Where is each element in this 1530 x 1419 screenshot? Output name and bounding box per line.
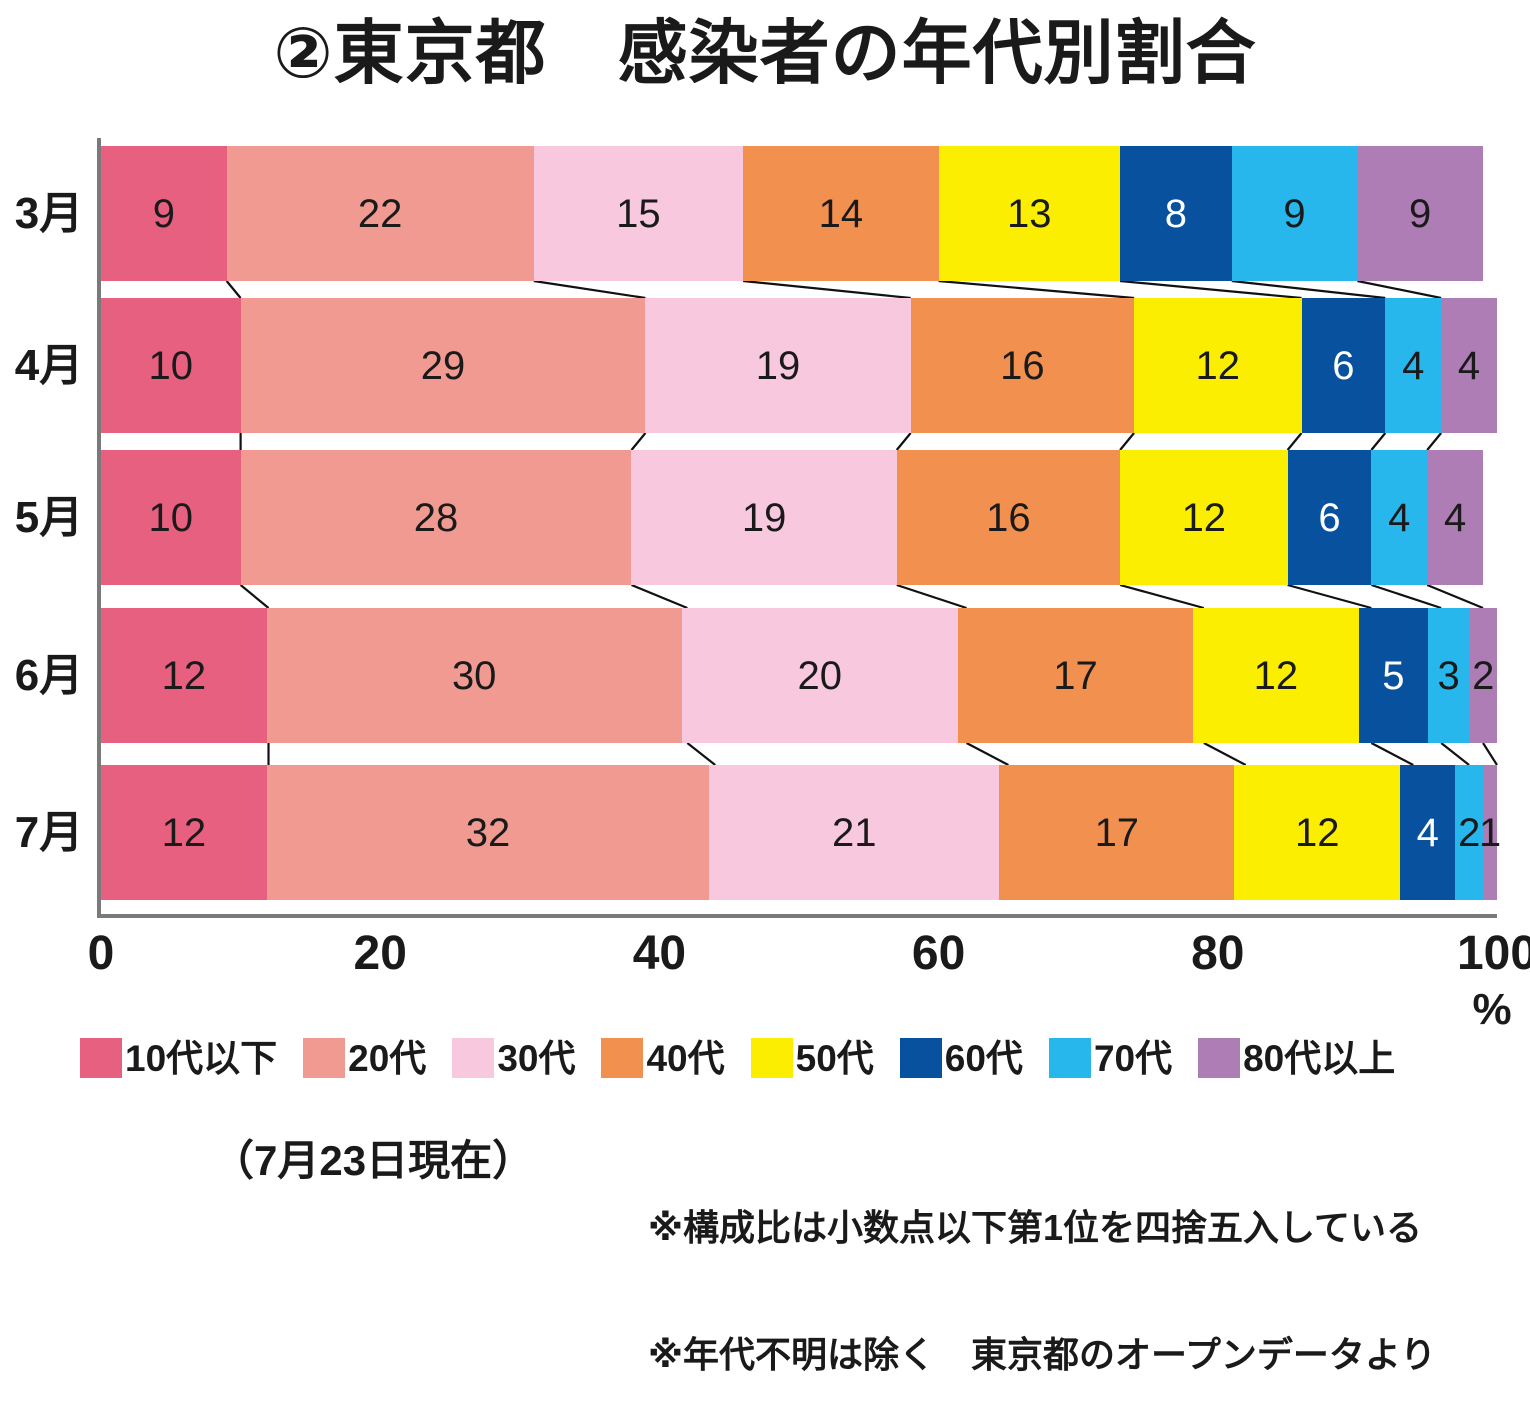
segment-connector-line [227, 281, 241, 298]
bar-segment[interactable]: 30 [267, 608, 682, 743]
legend-color-swatch [80, 1038, 122, 1078]
bar-segment-value: 4 [1402, 346, 1424, 386]
segment-connector-line [1120, 281, 1301, 298]
bar-segment[interactable]: 16 [911, 298, 1134, 433]
bar-segment-value: 4 [1388, 498, 1410, 538]
legend-item[interactable]: 80代以上 [1198, 1038, 1395, 1078]
legend-item-label: 20代 [348, 1040, 426, 1077]
legend-color-swatch [303, 1038, 345, 1078]
chart-plot-area: 9221514138991029191612644102819161264412… [0, 138, 1530, 928]
legend-item[interactable]: 10代以下 [80, 1038, 277, 1078]
stacked-bar-row: 922151413899 [101, 146, 1497, 281]
legend-item-label: 30代 [497, 1040, 575, 1077]
bar-segment-value: 5 [1382, 656, 1404, 696]
bar-segment[interactable]: 17 [958, 608, 1193, 743]
bar-segment-value: 19 [742, 498, 787, 538]
legend-item[interactable]: 60代 [900, 1038, 1023, 1078]
segment-connector-line [1371, 743, 1413, 765]
bar-segment-value: 1 [1479, 813, 1501, 853]
legend-color-swatch [1198, 1038, 1240, 1078]
stacked-bar-row: 1230201712532 [101, 608, 1497, 743]
stacked-bar-row: 1029191612644 [101, 298, 1497, 433]
bar-segment-value: 14 [819, 194, 864, 234]
bar-segment[interactable]: 6 [1302, 298, 1386, 433]
page-title: ②東京都 感染者の年代別割合 [0, 18, 1530, 88]
source-note-line-1: ※構成比は小数点以下第1位を四捨五入している [648, 1207, 1436, 1249]
y-axis-month-label: 3月 [8, 192, 90, 236]
bar-segment[interactable]: 4 [1427, 450, 1483, 585]
x-axis-tick-label: 80 [1191, 930, 1244, 978]
legend-item-label: 60代 [945, 1040, 1023, 1077]
bar-segment-value: 6 [1332, 346, 1354, 386]
source-notes: ※構成比は小数点以下第1位を四捨五入している ※年代不明は除く 東京都のオープン… [648, 1122, 1436, 1419]
stacked-bar-row: 1232211712421 [101, 765, 1497, 900]
bar-segment[interactable]: 10 [101, 450, 241, 585]
bar-segment-value: 17 [1095, 813, 1140, 853]
segment-connector-line [1427, 433, 1441, 450]
bar-segment-value: 22 [358, 194, 403, 234]
bar-segment[interactable]: 4 [1441, 298, 1497, 433]
legend-item-label: 40代 [646, 1040, 724, 1077]
legend-color-swatch [900, 1038, 942, 1078]
legend-color-swatch [1049, 1038, 1091, 1078]
segment-connector-line [1120, 433, 1134, 450]
bar-segment-value: 12 [1254, 656, 1299, 696]
bar-segment[interactable]: 5 [1359, 608, 1428, 743]
bar-segment[interactable]: 12 [1134, 298, 1302, 433]
bar-segment[interactable]: 9 [101, 146, 227, 281]
bar-segment-value: 21 [832, 813, 877, 853]
x-axis-tick-label: 40 [633, 930, 686, 978]
x-axis-tick-label: 20 [353, 930, 406, 978]
bar-segment[interactable]: 12 [101, 608, 267, 743]
legend-item-label: 70代 [1094, 1040, 1172, 1077]
bar-segment-value: 17 [1053, 656, 1098, 696]
bar-segment[interactable]: 13 [939, 146, 1120, 281]
legend-color-swatch [751, 1038, 793, 1078]
legend-color-swatch [601, 1038, 643, 1078]
bar-segment[interactable]: 1 [1483, 765, 1497, 900]
bar-segment-value: 2 [1472, 656, 1494, 696]
x-axis-unit-label: % [1472, 988, 1511, 1032]
legend-item[interactable]: 40代 [601, 1038, 724, 1078]
y-axis-month-label: 5月 [8, 496, 90, 540]
segment-connector-line [967, 743, 1009, 765]
as-of-date-note: （7月23日現在） [212, 1140, 534, 1182]
segment-connector-line [939, 281, 1134, 298]
segment-connector-line [1427, 585, 1483, 608]
legend-color-swatch [452, 1038, 494, 1078]
segment-connector-line [897, 433, 911, 450]
bar-segment-value: 19 [756, 346, 801, 386]
x-axis-tick-label: 0 [88, 930, 115, 978]
segment-connector-line [534, 281, 646, 298]
bar-segment[interactable]: 9 [1232, 146, 1358, 281]
y-axis-month-label: 6月 [8, 654, 90, 698]
bar-segment[interactable]: 12 [1193, 608, 1359, 743]
x-axis-tick-label: 60 [912, 930, 965, 978]
bar-segment[interactable]: 12 [1234, 765, 1400, 900]
bar-segment[interactable]: 2 [1455, 765, 1483, 900]
bar-segment-value: 12 [162, 656, 207, 696]
bar-segment-value: 16 [986, 498, 1031, 538]
segment-connector-line [897, 585, 967, 608]
bar-segment[interactable]: 4 [1371, 450, 1427, 585]
segment-connector-line [1232, 281, 1386, 298]
segment-connector-line [1371, 585, 1441, 608]
bar-segment-value: 20 [798, 656, 843, 696]
segment-connector-line [1483, 743, 1497, 765]
segment-connector-line [1371, 433, 1385, 450]
bar-segment[interactable]: 19 [631, 450, 896, 585]
bar-segment[interactable]: 14 [743, 146, 938, 281]
bar-segment-value: 28 [414, 498, 459, 538]
bar-segment-value: 12 [1182, 498, 1227, 538]
legend-item[interactable]: 70代 [1049, 1038, 1172, 1078]
x-axis-line [97, 914, 1497, 918]
bar-segment[interactable]: 15 [534, 146, 743, 281]
bar-segment-value: 13 [1007, 194, 1052, 234]
bar-segment-value: 15 [616, 194, 661, 234]
x-axis-tick-label: 100 [1457, 930, 1530, 978]
bar-segment-value: 12 [1196, 346, 1241, 386]
bar-segment-value: 9 [153, 194, 175, 234]
bar-segment-value: 4 [1444, 498, 1466, 538]
legend-item[interactable]: 20代 [303, 1038, 426, 1078]
bar-segment[interactable]: 16 [897, 450, 1120, 585]
legend-item[interactable]: 50代 [751, 1038, 874, 1078]
bar-segment[interactable]: 12 [1120, 450, 1288, 585]
bar-segment[interactable]: 2 [1469, 608, 1497, 743]
bar-segment[interactable]: 12 [101, 765, 267, 900]
bar-segment[interactable]: 6 [1288, 450, 1372, 585]
segment-connector-line [241, 585, 269, 608]
legend-item-label: 80代以上 [1243, 1040, 1395, 1077]
bar-segment[interactable]: 9 [1357, 146, 1483, 281]
bar-segment-value: 29 [421, 346, 466, 386]
bar-segment[interactable]: 28 [241, 450, 632, 585]
bar-segment[interactable]: 19 [645, 298, 910, 433]
bar-segment[interactable]: 10 [101, 298, 241, 433]
bar-segment[interactable]: 20 [682, 608, 958, 743]
bar-segment-value: 10 [149, 498, 194, 538]
source-note-line-2: ※年代不明は除く 東京都のオープンデータより [648, 1334, 1436, 1376]
segment-connector-line [1357, 281, 1441, 298]
bar-segment[interactable]: 17 [999, 765, 1234, 900]
bar-segment[interactable]: 8 [1120, 146, 1232, 281]
bar-segment-value: 9 [1283, 194, 1305, 234]
legend-item-label: 50代 [796, 1040, 874, 1077]
bar-segment[interactable]: 32 [267, 765, 709, 900]
segment-connector-line [1204, 743, 1246, 765]
y-axis-month-label: 4月 [8, 344, 90, 388]
bar-segment[interactable]: 4 [1385, 298, 1441, 433]
bar-segment-value: 16 [1000, 346, 1045, 386]
bar-segment[interactable]: 3 [1428, 608, 1469, 743]
bar-segment[interactable]: 4 [1400, 765, 1455, 900]
bar-segment[interactable]: 22 [227, 146, 534, 281]
bar-segment-value: 12 [1295, 813, 1340, 853]
bar-segment[interactable]: 21 [709, 765, 999, 900]
segment-connector-line [631, 433, 645, 450]
segment-connector-line [1288, 585, 1372, 608]
bar-segment-value: 2 [1458, 813, 1480, 853]
bar-segment-value: 10 [149, 346, 194, 386]
chart-legend: 10代以下20代30代40代50代60代70代80代以上 [80, 1038, 1500, 1078]
bar-segment-value: 4 [1417, 813, 1439, 853]
y-axis-month-label: 7月 [8, 811, 90, 855]
legend-item[interactable]: 30代 [452, 1038, 575, 1078]
segment-connector-line [743, 281, 911, 298]
segment-connector-line [1288, 433, 1302, 450]
segment-connector-line [631, 585, 687, 608]
stacked-bar-row: 1028191612644 [101, 450, 1497, 585]
bar-segment-value: 6 [1318, 498, 1340, 538]
bar-segment-value: 30 [452, 656, 497, 696]
bar-segment-value: 8 [1165, 194, 1187, 234]
segment-connector-line [1120, 585, 1204, 608]
legend-item-label: 10代以下 [125, 1040, 277, 1077]
segment-connector-line [687, 743, 715, 765]
bar-segment-value: 3 [1438, 656, 1460, 696]
bar-segment-value: 9 [1409, 194, 1431, 234]
bar-segment[interactable]: 29 [241, 298, 646, 433]
segment-connector-line [1441, 743, 1469, 765]
bar-segment-value: 32 [466, 813, 511, 853]
bar-segment-value: 12 [162, 813, 207, 853]
bar-segment-value: 4 [1458, 346, 1480, 386]
